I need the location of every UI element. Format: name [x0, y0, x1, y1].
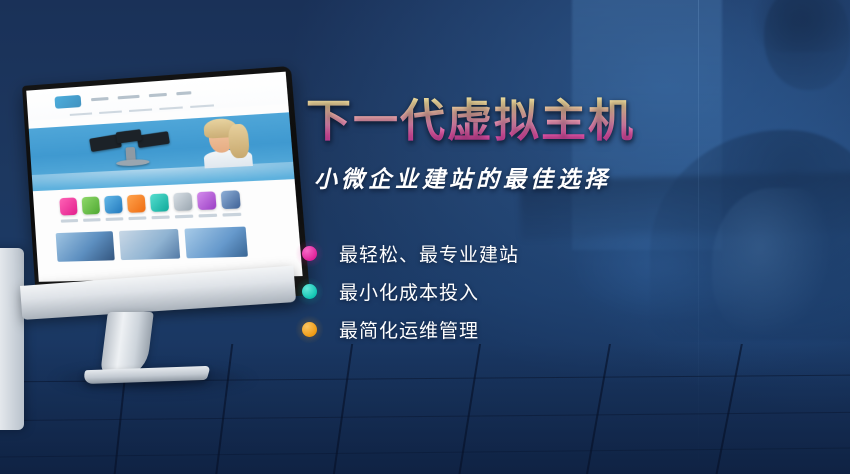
feature-label: 最简化运维管理: [339, 316, 479, 343]
imac-monitor-icon: [8, 86, 298, 406]
dot-icon: [302, 284, 317, 299]
hero-person-photo: [201, 117, 255, 166]
app-icon: [127, 194, 146, 212]
list-item: 最简化运维管理: [302, 310, 768, 348]
promo-banner: 下一代虚拟主机 小微企业建站的最佳选择 最轻松、最专业建站 最小化成本投入 最简…: [0, 0, 850, 474]
app-icon: [173, 192, 193, 211]
app-label: [222, 213, 241, 217]
feature-label: 最小化成本投入: [339, 278, 479, 305]
app-icon: [104, 195, 123, 213]
app-label: [175, 215, 193, 219]
website-hero-banner: [29, 112, 295, 191]
website-logo: [54, 95, 81, 109]
app-icon: [82, 196, 101, 214]
app-icon: [197, 191, 217, 210]
app-label: [198, 214, 217, 218]
page-title: 下一代虚拟主机: [306, 96, 768, 146]
app-icon: [59, 197, 77, 215]
website-card-row: [56, 227, 248, 262]
hero-device-base: [116, 159, 150, 167]
website-card: [56, 231, 115, 262]
monitor-screen: [26, 72, 302, 282]
app-label: [61, 219, 78, 223]
monitor-bezel: [22, 66, 310, 300]
dot-icon: [302, 322, 317, 337]
page-subtitle: 小微企业建站的最佳选择: [314, 160, 768, 194]
app-label: [151, 215, 169, 219]
app-label: [106, 217, 124, 221]
website-card: [119, 229, 180, 260]
app-label: [128, 216, 146, 220]
list-item: 最小化成本投入: [302, 272, 768, 310]
banner-text-block: 下一代虚拟主机 小微企业建站的最佳选择 最轻松、最专业建站 最小化成本投入 最简…: [298, 96, 768, 348]
photo-head: [764, 0, 850, 90]
app-icon: [150, 193, 169, 212]
feature-list: 最轻松、最专业建站 最小化成本投入 最简化运维管理: [302, 234, 768, 348]
hero-person-hair: [228, 123, 251, 158]
dot-icon: [302, 246, 317, 261]
list-item: 最轻松、最专业建站: [302, 234, 768, 272]
website-preview: [26, 72, 302, 282]
hero-device-cluster: [89, 126, 179, 170]
website-card: [184, 227, 248, 259]
hero-wave: [32, 162, 295, 197]
app-icon: [221, 190, 241, 209]
app-label: [83, 218, 101, 222]
feature-label: 最轻松、最专业建站: [339, 240, 519, 267]
